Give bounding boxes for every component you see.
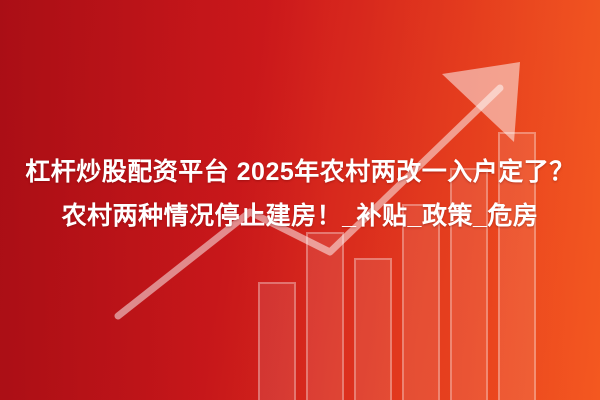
page-title: 杠杆炒股配资平台 2025年农村两改一入户定了？ 农村两种情况停止建房！_补贴_… [0, 150, 600, 238]
headline-line-2: 农村两种情况停止建房！_补贴_政策_危房 [0, 194, 600, 238]
chart-bar [354, 258, 392, 400]
headline-line-1: 杠杆炒股配资平台 2025年农村两改一入户定了？ [25, 158, 575, 186]
chart-bar [258, 282, 296, 400]
article-cover-banner: 杠杆炒股配资平台 2025年农村两改一入户定了？ 农村两种情况停止建房！_补贴_… [0, 0, 600, 400]
chart-bar [306, 232, 344, 400]
